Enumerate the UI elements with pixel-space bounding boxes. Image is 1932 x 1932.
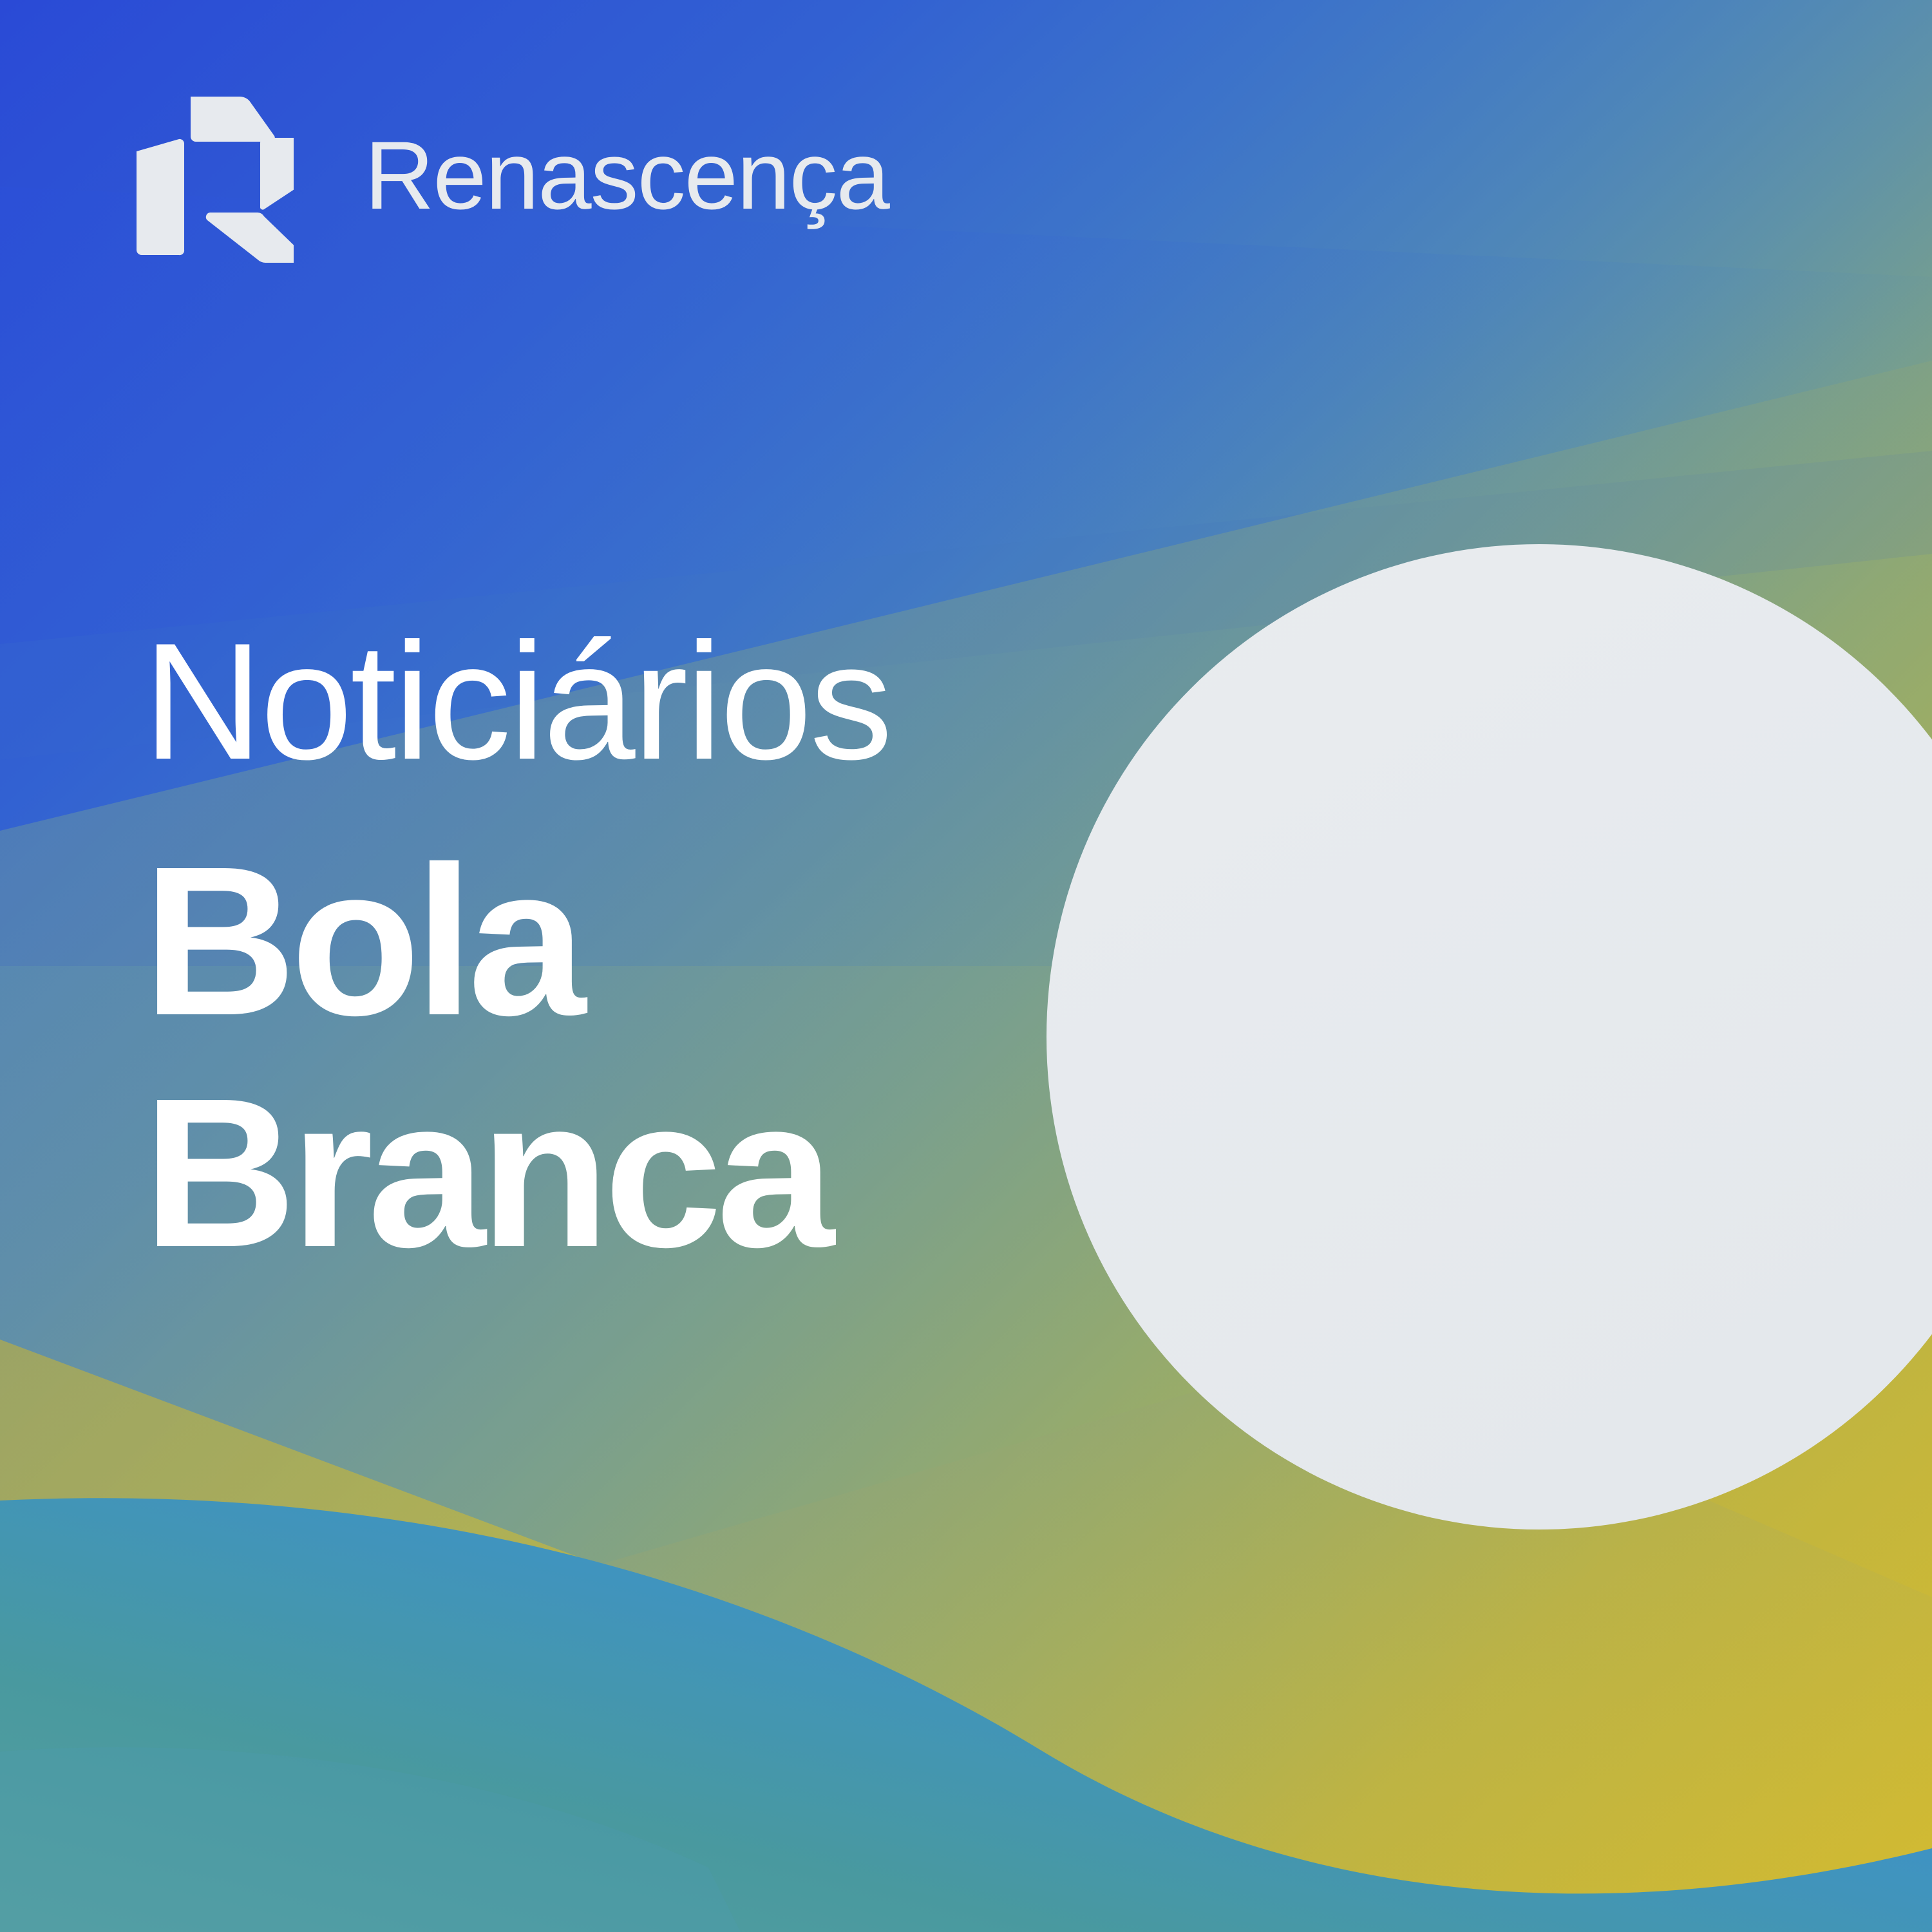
title-block: Noticiários Bola Branca bbox=[143, 618, 1431, 1273]
show-title-line-1: Bola bbox=[143, 840, 1431, 1042]
renascenca-wordmark: Renascença bbox=[365, 126, 1073, 236]
show-kicker: Noticiários bbox=[143, 618, 1431, 784]
renascenca-wordmark-text: Renascença bbox=[365, 126, 890, 229]
renascenca-logo-icon bbox=[126, 90, 294, 264]
show-title-line-2: Branca bbox=[143, 1072, 1431, 1274]
podcast-cover-art: Renascença Noticiários Bola Branca bbox=[0, 0, 1932, 1932]
brand-lockup: Renascença bbox=[126, 90, 1092, 258]
